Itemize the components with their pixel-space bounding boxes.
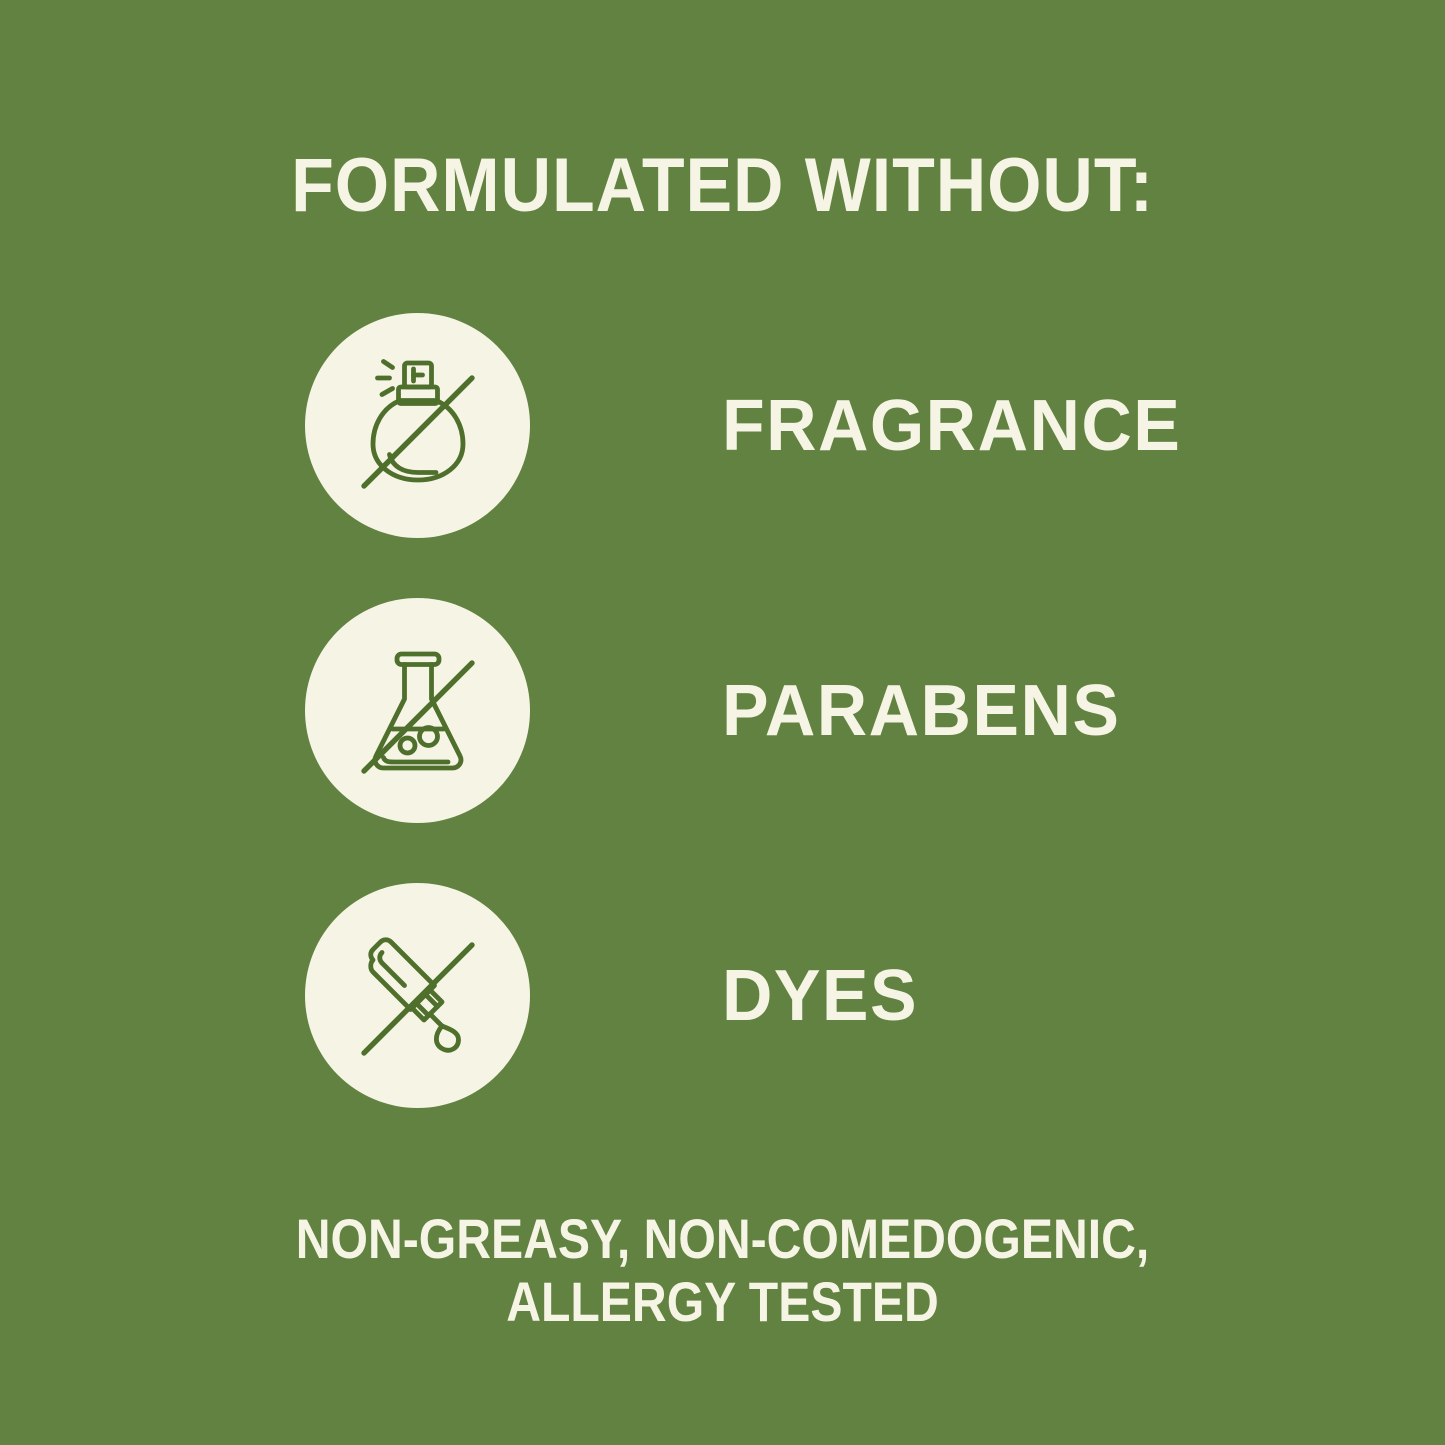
footer-line-1: NON-GREASY, NON-COMEDOGENIC,	[101, 1208, 1344, 1271]
claims-list: FRAGRANCE	[0, 313, 1445, 1108]
no-fragrance-badge	[305, 313, 530, 538]
no-dyes-badge	[305, 883, 530, 1108]
list-item: DYES	[0, 883, 1445, 1108]
list-item-label: DYES	[722, 960, 918, 1032]
list-item: FRAGRANCE	[0, 313, 1445, 538]
formulated-without-poster: FORMULATED WITHOUT:	[0, 0, 1445, 1445]
footer-claims: NON-GREASY, NON-COMEDOGENIC, ALLERGY TES…	[0, 1208, 1445, 1333]
list-item-label: FRAGRANCE	[722, 390, 1181, 462]
no-dyes-icon	[343, 921, 493, 1071]
no-parabens-badge	[305, 598, 530, 823]
no-parabens-icon	[343, 636, 493, 786]
list-item-label: PARABENS	[722, 675, 1120, 747]
page-title: FORMULATED WITHOUT:	[58, 148, 1387, 224]
footer-line-2: ALLERGY TESTED	[101, 1271, 1344, 1334]
no-fragrance-icon	[343, 351, 493, 501]
list-item: PARABENS	[0, 598, 1445, 823]
